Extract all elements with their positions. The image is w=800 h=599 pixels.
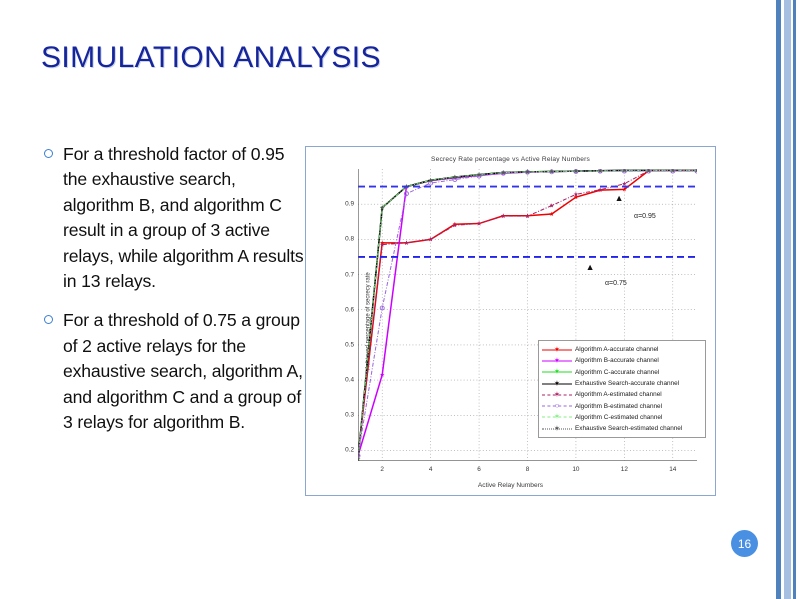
chart-y-tick: 0.4 — [345, 377, 354, 384]
list-item: For a threshold of 0.75 a group of 2 act… — [44, 308, 306, 435]
chart-x-tick: 8 — [526, 466, 530, 473]
chart-title: Secrecy Rate percentage vs Active Relay … — [306, 156, 715, 163]
chart-legend-item: ✶Algorithm A-estimated channel — [542, 389, 701, 400]
chart-image: Secrecy Rate percentage vs Active Relay … — [305, 146, 716, 496]
legend-label: Algorithm B-accurate channel — [575, 357, 659, 364]
chart-legend-item: ✶Algorithm A-accurate channel — [542, 344, 701, 355]
list-item: For a threshold factor of 0.95 the exhau… — [44, 142, 306, 294]
slide: SIMULATION ANALYSIS For a threshold fact… — [0, 0, 800, 599]
legend-label: Algorithm A-estimated channel — [575, 391, 662, 398]
legend-swatch-icon: ✶ — [542, 379, 572, 389]
chart-x-tick: 12 — [621, 466, 628, 473]
legend-label: Algorithm C-estimated channel — [575, 414, 662, 421]
legend-swatch-icon: ✶ — [542, 345, 572, 355]
chart-y-tick: 0.8 — [345, 236, 354, 243]
bullet-text: For a threshold of 0.75 a group of 2 act… — [63, 308, 306, 435]
chart-y-tick: 0.7 — [345, 271, 354, 278]
legend-label: Exhaustive Search-accurate channel — [575, 380, 679, 387]
chart-x-tick: 4 — [429, 466, 433, 473]
legend-label: Algorithm C-accurate channel — [575, 369, 659, 376]
chart-legend: ✶Algorithm A-accurate channel✶Algorithm … — [538, 340, 706, 438]
chart-x-axis-label: Active Relay Numbers — [306, 482, 715, 489]
legend-swatch-icon: ✶ — [542, 390, 572, 400]
chart-x-tick: 6 — [477, 466, 481, 473]
legend-swatch-icon: ○ — [542, 401, 572, 411]
bullet-list: For a threshold factor of 0.95 the exhau… — [44, 142, 306, 449]
chart-y-tick: 0.2 — [345, 447, 354, 454]
chart-annotation: α=0.95 — [634, 213, 656, 220]
chart-annotation: α=0.75 — [605, 280, 627, 287]
page-number-badge: 16 — [731, 530, 758, 557]
chart-x-tick: 10 — [572, 466, 579, 473]
chart-legend-item: ✶Algorithm C-accurate channel — [542, 367, 701, 378]
legend-swatch-icon: ✶ — [542, 412, 572, 422]
bullet-dot-icon — [44, 315, 53, 324]
chart-y-tick: 0.9 — [345, 201, 354, 208]
threshold-arrow-icon: ▲ — [615, 194, 624, 203]
decorative-edge-bars — [776, 0, 800, 599]
legend-label: Algorithm B-estimated channel — [575, 403, 662, 410]
page-title: SIMULATION ANALYSIS — [41, 41, 381, 75]
chart-legend-item: ○Algorithm B-estimated channel — [542, 400, 701, 411]
threshold-arrow-icon: ▲ — [586, 263, 595, 272]
chart-y-tick: 0.3 — [345, 412, 354, 419]
bullet-dot-icon — [44, 149, 53, 158]
bullet-text: For a threshold factor of 0.95 the exhau… — [63, 142, 306, 294]
legend-swatch-icon: ✶ — [542, 356, 572, 366]
legend-label: Algorithm A-accurate channel — [575, 346, 658, 353]
legend-label: Exhaustive Search-estimated channel — [575, 425, 682, 432]
chart-x-tick: 14 — [669, 466, 676, 473]
chart-y-tick: 0.5 — [345, 341, 354, 348]
chart-y-tick: 0.6 — [345, 306, 354, 313]
legend-swatch-icon: ✶ — [542, 367, 572, 377]
chart-x-tick: 2 — [380, 466, 384, 473]
chart-legend-item: ✶Algorithm B-accurate channel — [542, 355, 701, 366]
chart-legend-item: ✶Exhaustive Search-estimated channel — [542, 423, 701, 434]
legend-swatch-icon: ✶ — [542, 424, 572, 434]
chart-legend-item: ✶Algorithm C-estimated channel — [542, 412, 701, 423]
chart-legend-item: ✶Exhaustive Search-accurate channel — [542, 378, 701, 389]
